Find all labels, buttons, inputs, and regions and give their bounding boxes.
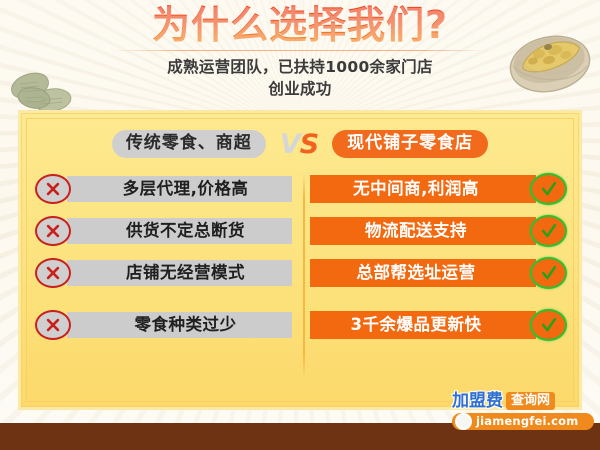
poster-root: 为什么选择我们? 成熟运营团队，已扶持1000余家门店 创业成功 传统零食、商超… — [0, 0, 600, 450]
right-column: 无中间商,利润高 物流配送支持 — [300, 169, 579, 397]
check-circle-icon — [530, 309, 567, 341]
left-row: 店铺无经营模式 — [35, 259, 292, 287]
right-row: 3千余爆品更新快 — [310, 311, 567, 339]
vs-header-row: 传统零食、商超 VS 现代铺子零食店 — [21, 129, 579, 159]
x-circle-icon — [35, 258, 71, 288]
x-circle-icon — [35, 216, 71, 246]
left-item-label: 供货不定总断货 — [126, 223, 245, 240]
right-item-bar: 总部帮选址运营 — [310, 259, 536, 287]
subtitle-line-2: 创业成功 — [0, 78, 600, 100]
comparison-body: 多层代理,价格高 供货不定总断货 — [21, 169, 579, 397]
check-circle-icon — [530, 215, 567, 247]
comparison-card: 传统零食、商超 VS 现代铺子零食店 多层代理,价格高 — [18, 110, 582, 410]
right-row: 物流配送支持 — [310, 217, 567, 245]
subtitle-line-1: 成熟运营团队，已扶持1000余家门店 — [0, 56, 600, 78]
check-circle-icon — [530, 173, 567, 205]
watermark-url-bar: jiamengfei.com — [452, 413, 594, 430]
check-circle-icon — [530, 257, 567, 289]
left-item-label: 零食种类过少 — [135, 317, 237, 334]
watermark-url: jiamengfei.com — [476, 416, 578, 428]
watermark-logo[interactable]: 加盟费 查询网 jiamengfei.com — [452, 391, 594, 429]
watermark-brand: 加盟费 — [452, 393, 503, 410]
left-column: 多层代理,价格高 供货不定总断货 — [21, 169, 300, 397]
watermark-top-row: 加盟费 查询网 — [452, 391, 594, 411]
old-model-pill: 传统零食、商超 — [112, 130, 266, 157]
left-item-bar: 店铺无经营模式 — [67, 260, 292, 286]
page-title: 为什么选择我们? — [0, 4, 600, 47]
vs-letter-v: V — [280, 129, 300, 160]
left-row: 供货不定总断货 — [35, 217, 292, 245]
left-item-bar: 多层代理,价格高 — [67, 176, 292, 202]
new-model-pill: 现代铺子零食店 — [332, 130, 488, 157]
right-item-label: 物流配送支持 — [365, 223, 467, 240]
left-item-bar: 供货不定总断货 — [67, 218, 292, 244]
watermark-tag: 查询网 — [506, 392, 555, 410]
right-item-label: 无中间商,利润高 — [353, 181, 479, 198]
vs-letter-s: S — [300, 129, 318, 160]
right-row: 无中间商,利润高 — [310, 175, 567, 203]
right-item-bar: 3千余爆品更新快 — [310, 311, 536, 339]
magnifier-icon — [455, 413, 472, 430]
vs-badge: VS — [278, 131, 320, 158]
title-block: 为什么选择我们? 成熟运营团队，已扶持1000余家门店 创业成功 — [0, 4, 600, 100]
left-item-label: 多层代理,价格高 — [123, 181, 249, 198]
left-row: 零食种类过少 — [35, 311, 292, 339]
x-circle-icon — [35, 310, 71, 340]
title-divider — [112, 50, 488, 51]
column-divider — [303, 173, 305, 379]
left-item-bar: 零食种类过少 — [67, 312, 292, 338]
right-item-label: 3千余爆品更新快 — [351, 317, 482, 334]
left-item-label: 店铺无经营模式 — [126, 265, 245, 282]
left-row: 多层代理,价格高 — [35, 175, 292, 203]
right-row: 总部帮选址运营 — [310, 259, 567, 287]
right-item-bar: 物流配送支持 — [310, 217, 536, 245]
right-item-bar: 无中间商,利润高 — [310, 175, 536, 203]
x-circle-icon — [35, 174, 71, 204]
right-item-label: 总部帮选址运营 — [357, 265, 476, 282]
